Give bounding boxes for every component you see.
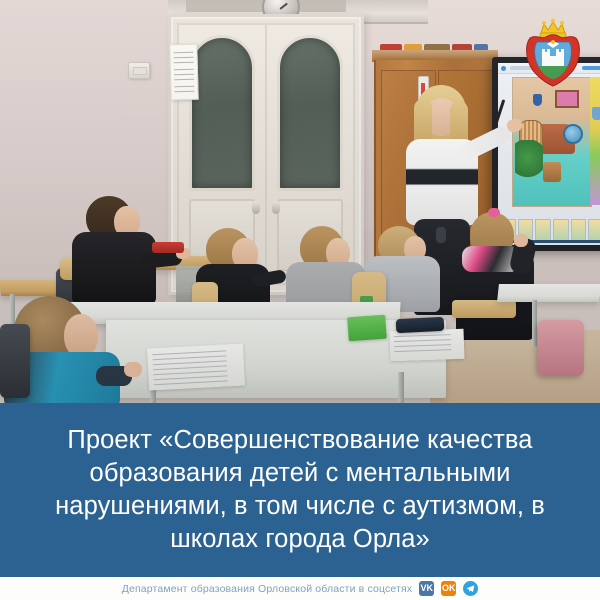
ok-icon[interactable]: OK <box>441 581 456 596</box>
thumbnail[interactable] <box>588 219 600 241</box>
pencil-case <box>396 317 445 333</box>
illustration-barrel <box>543 162 561 182</box>
pink-backpack <box>538 320 584 376</box>
red-pencil-box <box>152 242 184 253</box>
classroom-photo <box>0 0 600 403</box>
door-handle-left <box>252 201 260 214</box>
student-hand <box>514 234 528 247</box>
whiteboard-screen[interactable] <box>498 63 600 245</box>
desk <box>497 284 600 302</box>
green-notebook <box>347 315 387 342</box>
chair-seat <box>452 300 516 318</box>
worksheet <box>147 344 245 391</box>
app-icon <box>501 66 506 71</box>
thumbnail[interactable] <box>535 219 551 241</box>
whiteboard-illustration <box>512 77 592 207</box>
footer: Департамент образования Орловской област… <box>0 577 600 600</box>
door-glass-left <box>189 35 255 191</box>
student-hand <box>124 362 142 377</box>
telegram-icon[interactable] <box>463 581 478 596</box>
teacher-drawstring <box>436 227 446 243</box>
illustration-vase <box>533 94 542 106</box>
thumbnail[interactable] <box>553 219 569 241</box>
poster: Проект «Совершенствование качества образ… <box>0 0 600 600</box>
student-body <box>72 232 156 304</box>
desk-leg <box>398 372 404 403</box>
worksheet <box>389 329 464 362</box>
illustration-mirror <box>563 124 583 144</box>
footer-text: Департамент образования Орловской област… <box>122 583 413 595</box>
illustration-plant <box>515 140 543 180</box>
vk-icon[interactable]: VK <box>419 581 434 596</box>
light-switch <box>128 62 150 79</box>
illustration-kitchen <box>590 77 600 205</box>
hair-tie <box>488 208 500 217</box>
desk-leg <box>532 300 537 346</box>
door-handle-right <box>272 201 280 214</box>
door-notice <box>169 44 198 101</box>
illustration-kettle <box>592 107 600 120</box>
door-glass-right <box>277 35 343 191</box>
illustration-picture <box>555 90 579 108</box>
headline-banner: Проект «Совершенствование качества образ… <box>0 403 600 577</box>
page-title: Проект «Совершенствование качества образ… <box>0 424 600 557</box>
chair <box>0 324 30 398</box>
thumbnail[interactable] <box>571 219 587 241</box>
oryol-oblast-coat-of-arms <box>520 18 586 88</box>
